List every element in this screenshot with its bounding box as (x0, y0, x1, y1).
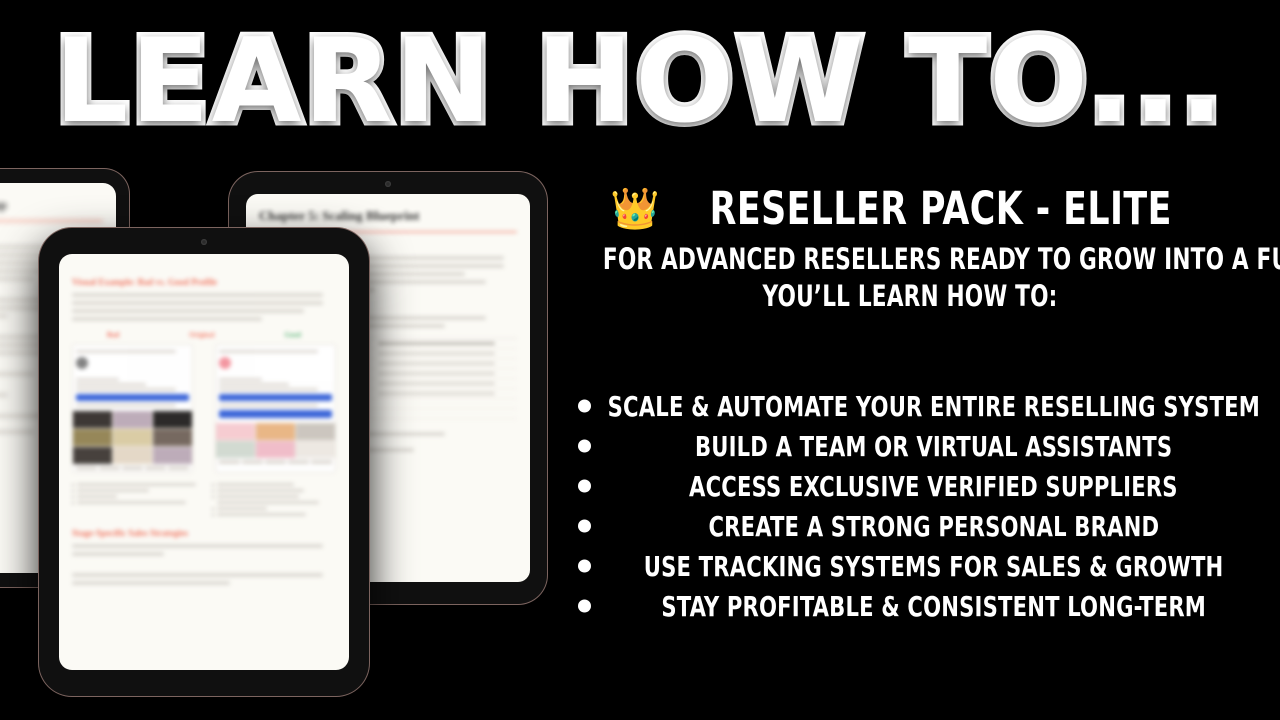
list-item (72, 489, 196, 492)
ebook-page-heading: amp Setup (0, 197, 103, 213)
photo-grid (216, 423, 335, 458)
comparison-bullet-columns (72, 480, 336, 519)
benefit-label: SCALE & AUTOMATE YOUR ENTIRE RESELLING S… (560, 390, 1259, 423)
page-title: LEARN HOW TO... (0, 24, 1280, 140)
offer-subtitle-line1: FOR ADVANCED RESELLERS READY TO GROW INT… (603, 242, 1280, 276)
benefit-label: ACCESS EXCLUSIVE VERIFIED SUPPLIERS (642, 470, 1178, 503)
text-line (0, 277, 34, 281)
benefit-label: STAY PROFITABLE & CONSISTENT LONG-TERM (614, 590, 1206, 623)
bullet-dot-icon (578, 520, 591, 533)
text-line (72, 301, 323, 305)
text-line (72, 317, 262, 321)
list-item (212, 501, 336, 504)
list-item: CREATE A STRONG PERSONAL BRAND (540, 506, 1280, 546)
avatar (76, 357, 88, 369)
list-item: USE TRACKING SYSTEMS FOR SALES & GROWTH (540, 546, 1280, 586)
benefits-list: SCALE & AUTOMATE YOUR ENTIRE RESELLING S… (540, 386, 1280, 626)
photo-grid (73, 411, 192, 464)
text-line (72, 581, 230, 585)
section-heading: Visual Example: Bad vs. Good Profile (72, 277, 336, 287)
promo-banner (219, 410, 332, 418)
text-line (72, 552, 164, 556)
list-item (212, 513, 336, 516)
list-item (72, 501, 196, 504)
follow-button (76, 394, 189, 401)
chapter-title: Chapter 5: Scaling Blueprint (259, 208, 517, 224)
tablet-screen-front: Visual Example: Bad vs. Good Profile Bad… (59, 254, 349, 670)
comparison-screenshots (72, 344, 336, 473)
text-line (72, 293, 323, 297)
text-line (0, 430, 34, 434)
list-item (212, 507, 336, 510)
crown-icon: 👑 (610, 189, 660, 229)
camera-dot-icon (201, 239, 207, 245)
bullet-column-good (212, 480, 336, 519)
benefit-label: CREATE A STRONG PERSONAL BRAND (661, 510, 1159, 543)
benefit-label: BUILD A TEAM OR VIRTUAL ASSISTANTS (648, 430, 1172, 463)
text-line (0, 314, 8, 318)
offer-block: 👑 RESELLER PACK - ELITE FOR ADVANCED RES… (540, 186, 1280, 315)
bullet-dot-icon (578, 560, 591, 573)
text-line (72, 573, 323, 577)
benefit-label: USE TRACKING SYSTEMS FOR SALES & GROWTH (597, 550, 1224, 583)
bullet-dot-icon (578, 480, 591, 493)
offer-title: RESELLER PACK - ELITE (710, 186, 1172, 231)
bullet-column-bad (72, 480, 196, 519)
list-item (212, 483, 336, 486)
profile-screenshot-bad (72, 344, 193, 473)
offer-subtitle: FOR ADVANCED RESELLERS READY TO GROW INT… (603, 241, 1217, 315)
offer-title-row: 👑 RESELLER PACK - ELITE (540, 186, 1280, 231)
text-line (72, 309, 304, 313)
accent-rule (0, 220, 103, 222)
list-item (72, 495, 196, 498)
follow-button (219, 394, 332, 401)
bullet-dot-icon (578, 440, 591, 453)
comparison-labels: Bad Original Good (72, 331, 336, 339)
list-item: SCALE & AUTOMATE YOUR ENTIRE RESELLING S… (540, 386, 1280, 426)
text-line (0, 372, 34, 376)
list-item (212, 489, 336, 492)
text-line (0, 393, 8, 397)
second-heading: Stage-Specific Sales Strategies (72, 528, 336, 538)
profile-screenshot-good (215, 344, 336, 473)
tablet-mockup-front: Visual Example: Bad vs. Good Profile Bad… (38, 227, 370, 697)
list-item (72, 483, 196, 486)
label-good: Good (285, 331, 301, 339)
offer-subtitle-line2: YOU’LL LEARN HOW TO: (603, 278, 1217, 315)
camera-dot-icon (385, 181, 391, 187)
list-item (212, 495, 336, 498)
avatar (219, 357, 231, 369)
label-bad: Bad (107, 331, 119, 339)
label-original: Original (189, 331, 214, 339)
text-line (72, 544, 323, 548)
ebook-page-front: Visual Example: Bad vs. Good Profile Bad… (59, 254, 349, 670)
poster-canvas: LEARN HOW TO... amp Setup (0, 0, 1280, 720)
list-item: BUILD A TEAM OR VIRTUAL ASSISTANTS (540, 426, 1280, 466)
bullet-dot-icon (578, 600, 591, 613)
list-item: STAY PROFITABLE & CONSISTENT LONG-TERM (540, 586, 1280, 626)
list-item: ACCESS EXCLUSIVE VERIFIED SUPPLIERS (540, 466, 1280, 506)
